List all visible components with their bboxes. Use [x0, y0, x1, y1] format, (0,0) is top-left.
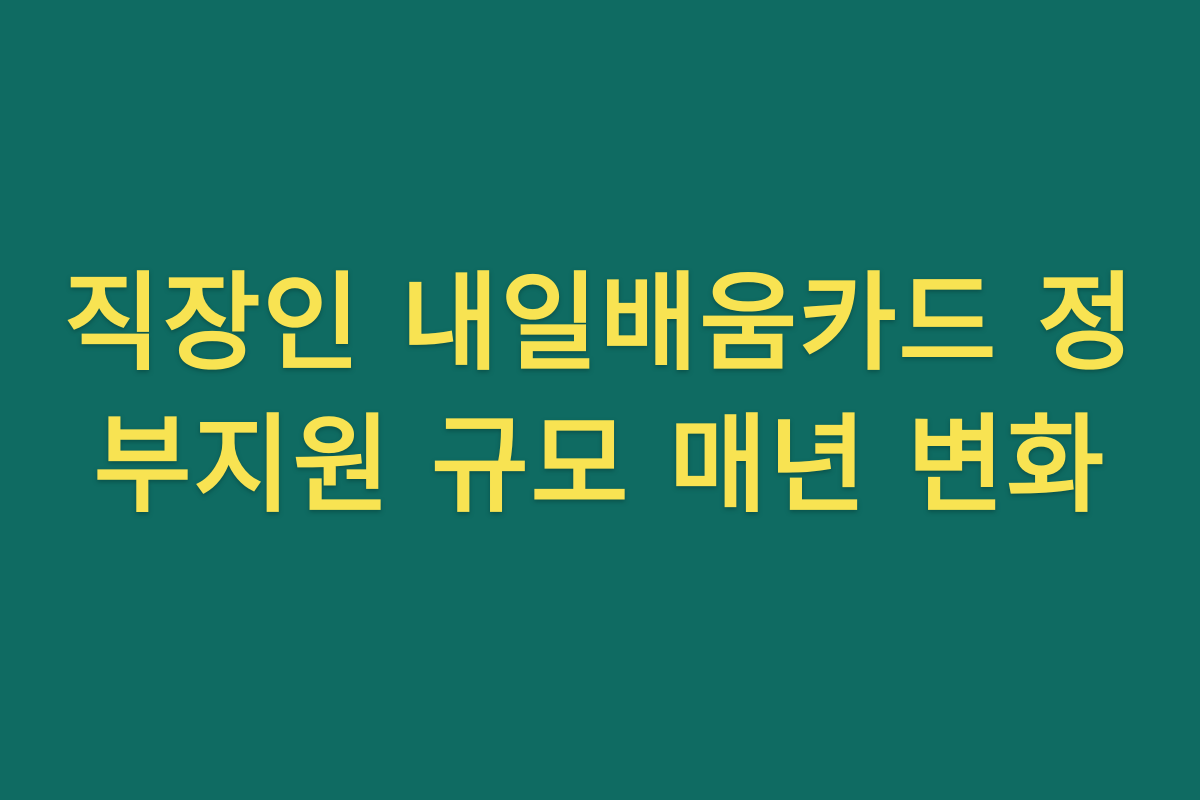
headline-line-1: 직장인 내일배움카드 정	[64, 253, 1137, 395]
headline-block: 직장인 내일배움카드 정 부지원 규모 매년 변화	[95, 253, 1105, 537]
banner-canvas: 직장인 내일배움카드 정 부지원 규모 매년 변화	[0, 0, 1200, 800]
headline-line-2: 부지원 규모 매년 변화	[94, 395, 1106, 537]
